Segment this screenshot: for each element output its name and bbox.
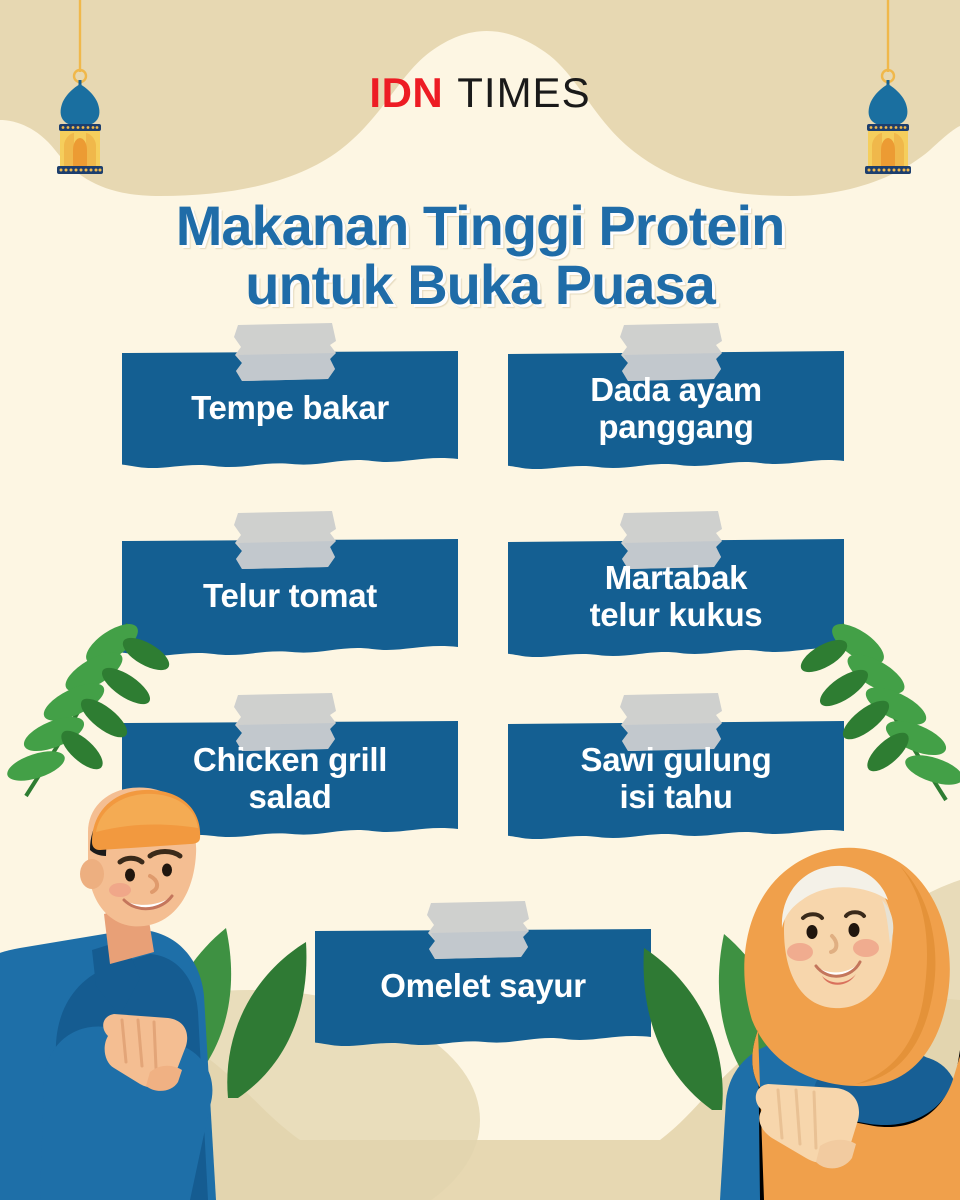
page-title-line-1: Makanan Tinggi Protein [176,194,785,257]
muslim-woman-illustration [720,848,960,1200]
infographic-canvas: IDNTIMES Makanan Tinggi Protein untuk Bu… [0,0,960,1200]
page-title: Makanan Tinggi Protein untuk Buka Puasa [0,196,960,315]
idn-times-logo: IDNTIMES [0,72,960,114]
logo-idn-text: IDN [369,69,443,116]
muslim-man-illustration [0,787,216,1200]
food-card-dada-ayam-panggang[interactable]: Dada ayam panggang [508,351,844,474]
food-card-label: Chicken grill salad [193,742,387,816]
food-card-label: Sawi gulung isi tahu [580,742,771,816]
food-card-label: Omelet sayur [380,968,586,1005]
leaf-illustration [4,616,174,796]
character-right-woman [660,780,960,1200]
leaf-illustration [796,616,960,800]
food-card-label: Tempe bakar [191,390,389,427]
food-card-label: Telur tomat [203,578,377,615]
food-card-label: Martabak telur kukus [590,560,763,634]
food-card-label: Dada ayam panggang [590,372,762,446]
page-title-line-2: untuk Buka Puasa [0,255,960,314]
logo-times-text: TIMES [457,69,590,116]
character-left-man [0,780,340,1200]
food-card-tempe-bakar[interactable]: Tempe bakar [122,351,458,474]
